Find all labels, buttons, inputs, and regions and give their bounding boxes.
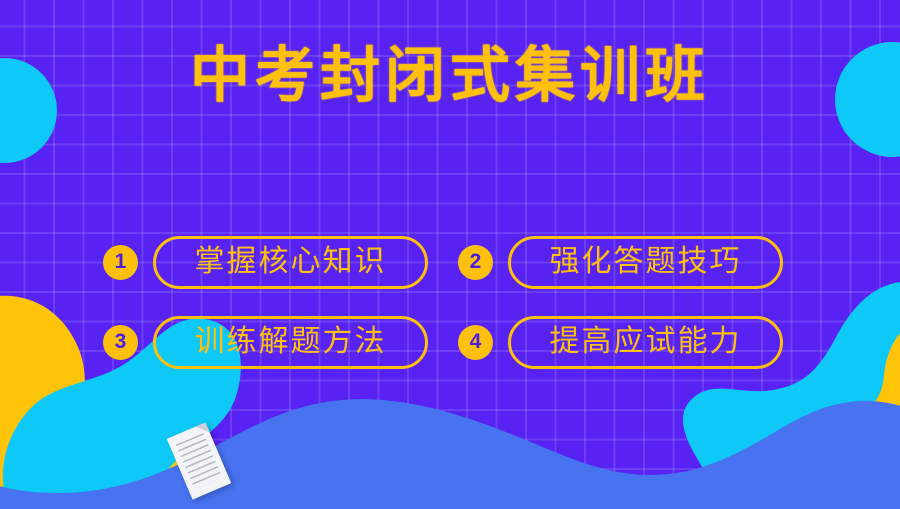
feature-pill-4[interactable]: 提高应试能力	[508, 316, 783, 369]
feature-label-3: 训练解题方法	[195, 327, 387, 357]
feature-item-1[interactable]: 1 掌握核心知识	[103, 222, 448, 302]
feature-item-3[interactable]: 3 训练解题方法	[103, 302, 448, 382]
feature-pill-1[interactable]: 掌握核心知识	[153, 236, 428, 289]
feature-number-badge-4: 4	[458, 325, 493, 360]
feature-number-badge-2: 2	[458, 245, 493, 280]
feature-item-4[interactable]: 4 提高应试能力	[458, 302, 803, 382]
poster-canvas: 中考封闭式集训班 1 掌握核心知识 2 强化答题技巧 3 训练解题方法	[0, 0, 900, 509]
feature-label-2: 强化答题技巧	[550, 247, 742, 277]
feature-label-1: 掌握核心知识	[195, 247, 387, 277]
poster-title: 中考封闭式集训班	[0, 44, 900, 109]
feature-number-badge-3: 3	[103, 325, 138, 360]
feature-pill-3[interactable]: 训练解题方法	[153, 316, 428, 369]
feature-number-badge-1: 1	[103, 245, 138, 280]
feature-list: 1 掌握核心知识 2 强化答题技巧 3 训练解题方法 4	[103, 222, 803, 382]
feature-item-2[interactable]: 2 强化答题技巧	[458, 222, 803, 302]
feature-pill-2[interactable]: 强化答题技巧	[508, 236, 783, 289]
poster-content: 中考封闭式集训班 1 掌握核心知识 2 强化答题技巧 3 训练解题方法	[0, 0, 900, 509]
feature-label-4: 提高应试能力	[550, 327, 742, 357]
